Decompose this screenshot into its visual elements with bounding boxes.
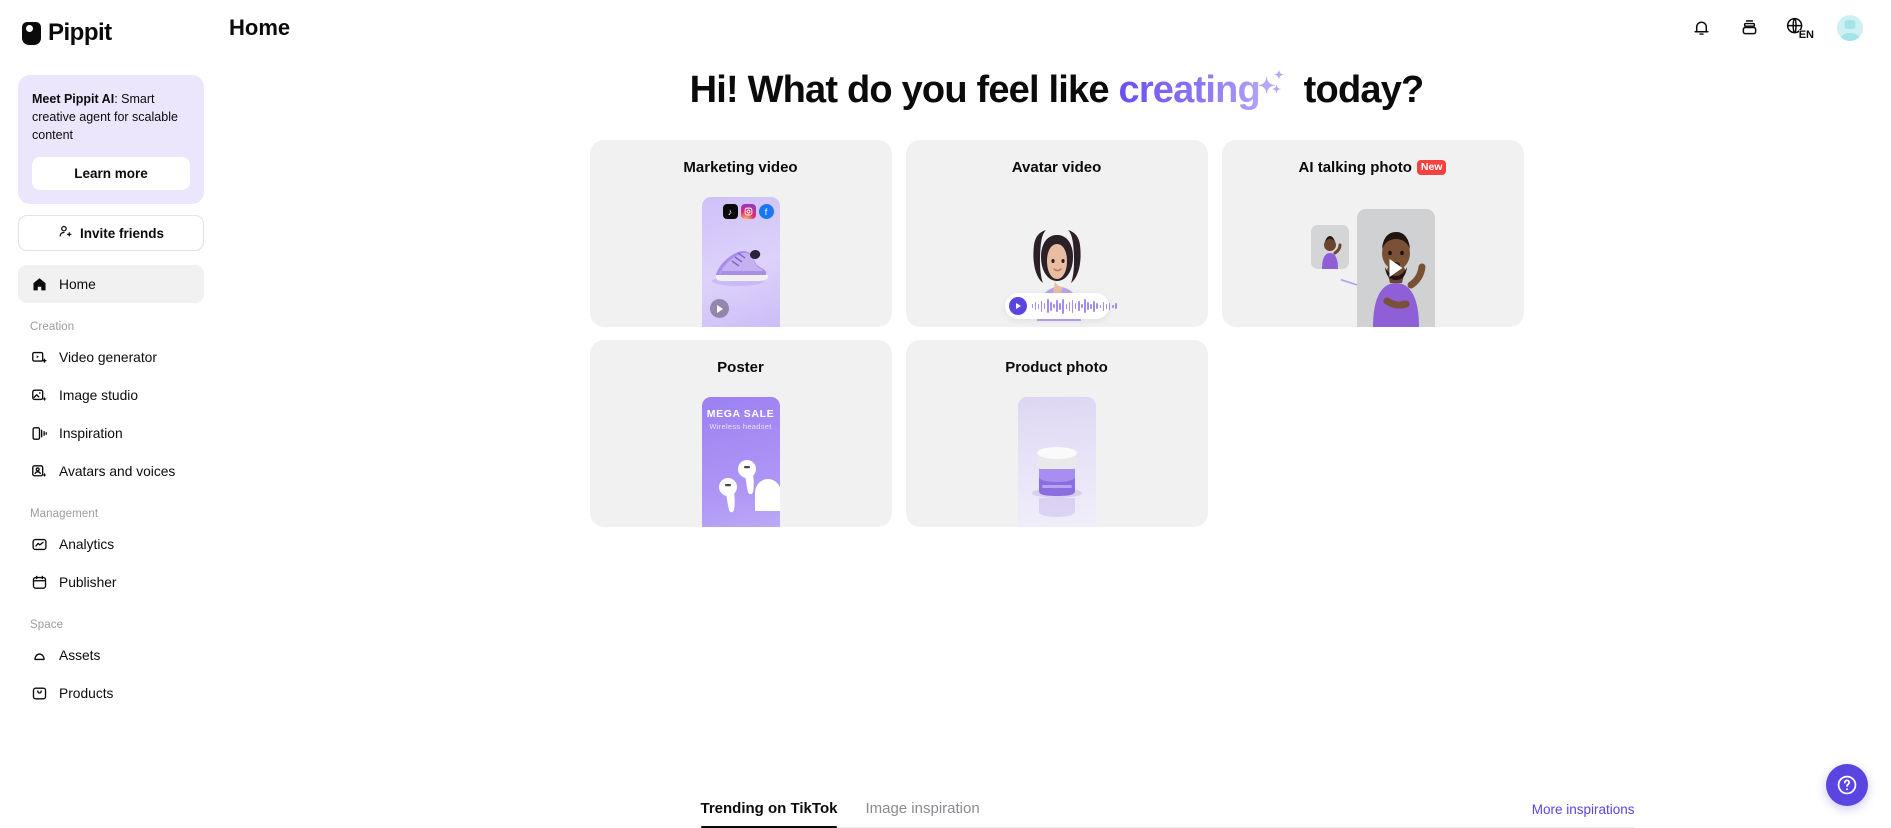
card-ai-talking-photo-title: AI talking photoNew [1222,140,1524,176]
home-icon [30,275,48,293]
more-inspirations-link[interactable]: More inspirations [1532,802,1635,827]
generated-video-thumbnail [1357,209,1435,327]
brand-logo[interactable]: Pippit [18,0,204,66]
instagram-icon [741,204,756,219]
sidebar-item-home-label: Home [59,277,96,292]
mega-sale-poster-thumbnail: MEGA SALE Wireless headset [702,397,780,527]
sidebar-group-space: Space [18,619,204,631]
image-studio-icon [30,386,48,404]
card-marketing-video[interactable]: Marketing video ♪ f [590,140,892,327]
language-code: EN [1799,30,1814,41]
pippit-logo-icon [22,22,41,45]
play-button[interactable] [710,299,729,318]
sidebar-item-products-label: Products [59,686,113,701]
poster-headline: MEGA SALE [702,408,780,420]
card-row-1: Marketing video ♪ f [590,140,1524,327]
help-button[interactable] [1826,764,1868,806]
card-grid-spacer [1222,340,1524,527]
promo-card: Meet Pippit AI: Smart creative agent for… [18,75,204,204]
avatars-voices-icon [30,462,48,480]
brand-name: Pippit [48,19,112,47]
status-badge: New [1417,160,1447,175]
sidebar-item-assets-label: Assets [59,648,100,663]
language-selector[interactable]: EN [1785,16,1813,40]
sidebar-item-avatars-and-voices-label: Avatars and voices [59,464,175,479]
sparkle-icon: ✦✦✦ [1260,91,1294,92]
sidebar-item-analytics[interactable]: Analytics [18,525,204,563]
card-ai-talking-photo-label: AI talking photo [1299,159,1412,176]
promo-title-bold: Meet Pippit AI [32,92,114,106]
bell-icon[interactable] [1689,16,1713,40]
products-icon [30,684,48,702]
invite-friends-button[interactable]: Invite friends [18,215,204,251]
hero-text-highlight: creating [1118,69,1259,111]
sidebar-item-analytics-label: Analytics [59,537,114,552]
play-button[interactable] [1009,297,1027,315]
tab-image-inspiration[interactable]: Image inspiration [865,800,979,827]
card-row-2: Poster MEGA SALE Wireless headset [590,340,1524,527]
sidebar-item-video-generator-label: Video generator [59,350,157,365]
cosmetic-jar-thumbnail [1018,397,1096,527]
sidebar-item-image-studio-label: Image studio [59,388,138,403]
tiktok-icon: ♪ [723,204,738,219]
sidebar-group-management: Management [18,508,204,520]
analytics-icon [30,535,48,553]
sidebar-item-assets[interactable]: Assets [18,636,204,674]
hero-heading: Hi! What do you feel like creating ✦✦✦ t… [222,69,1891,112]
main-content: Home [222,0,1891,828]
card-ai-talking-photo[interactable]: AI talking photoNew ⟶ [1222,140,1524,327]
tab-trending-on-tiktok[interactable]: Trending on TikTok [701,800,838,827]
poster-subline: Wireless headset [702,422,780,431]
sneaker-illustration [710,237,772,289]
inspiration-tabs: Trending on TikTok Image inspiration Mor… [701,784,1635,828]
card-avatar-video-title: Avatar video [906,140,1208,176]
card-poster-title: Poster [590,340,892,376]
app-root: Pippit Meet Pippit AI: Smart creative ag… [0,0,1891,828]
card-avatar-video[interactable]: Avatar video [906,140,1208,327]
feature-card-grid: Marketing video ♪ f [590,140,1524,527]
promo-text: Meet Pippit AI: Smart creative agent for… [32,90,190,144]
play-button[interactable] [1389,259,1402,277]
hero-text-part2: today? [1294,69,1424,111]
inspiration-icon [30,424,48,442]
assets-cloud-icon [30,646,48,664]
question-mark-icon [1836,774,1858,796]
bottom-section: Trending on TikTok Image inspiration Mor… [444,784,1891,828]
video-generator-icon [30,348,48,366]
sidebar-item-products[interactable]: Products [18,674,204,712]
purple-sneaker-thumbnail: ♪ f [702,197,780,327]
invite-friends-label: Invite friends [80,226,164,241]
card-marketing-video-title: Marketing video [590,140,892,176]
source-photo-thumbnail [1311,225,1349,269]
audio-waveform-player[interactable] [1005,293,1109,319]
sidebar-item-publisher[interactable]: Publisher [18,563,204,601]
card-product-photo-title: Product photo [906,340,1208,376]
sidebar-nav: Home Creation Video generator [18,265,204,712]
topbar: Home [222,0,1891,55]
sidebar-group-creation: Creation [18,321,204,333]
man-purple-sweater-thumbnail: ⟶ [1311,197,1435,327]
layers-icon[interactable] [1737,16,1761,40]
sidebar-item-inspiration-label: Inspiration [59,426,123,441]
sidebar-item-publisher-label: Publisher [59,575,117,590]
sidebar-item-video-generator[interactable]: Video generator [18,338,204,376]
sidebar: Pippit Meet Pippit AI: Smart creative ag… [0,0,222,828]
publisher-icon [30,573,48,591]
avatar[interactable] [1837,15,1863,41]
user-plus-icon [58,224,73,242]
page-title: Home [229,15,290,41]
sidebar-item-inspiration[interactable]: Inspiration [18,414,204,452]
sidebar-item-home[interactable]: Home [18,265,204,303]
topbar-actions: EN [1689,15,1863,41]
waveform [1032,298,1117,314]
sidebar-item-avatars-and-voices[interactable]: Avatars and voices [18,452,204,490]
earbuds-illustration [702,435,780,521]
learn-more-button[interactable]: Learn more [32,157,190,190]
card-poster[interactable]: Poster MEGA SALE Wireless headset [590,340,892,527]
social-icons: ♪ f [723,204,774,219]
facebook-icon: f [759,204,774,219]
cosmetic-jar-illustration [1018,397,1096,527]
card-product-photo[interactable]: Product photo [906,340,1208,527]
hero-text-part1: Hi! What do you feel like [690,69,1119,111]
sidebar-item-image-studio[interactable]: Image studio [18,376,204,414]
